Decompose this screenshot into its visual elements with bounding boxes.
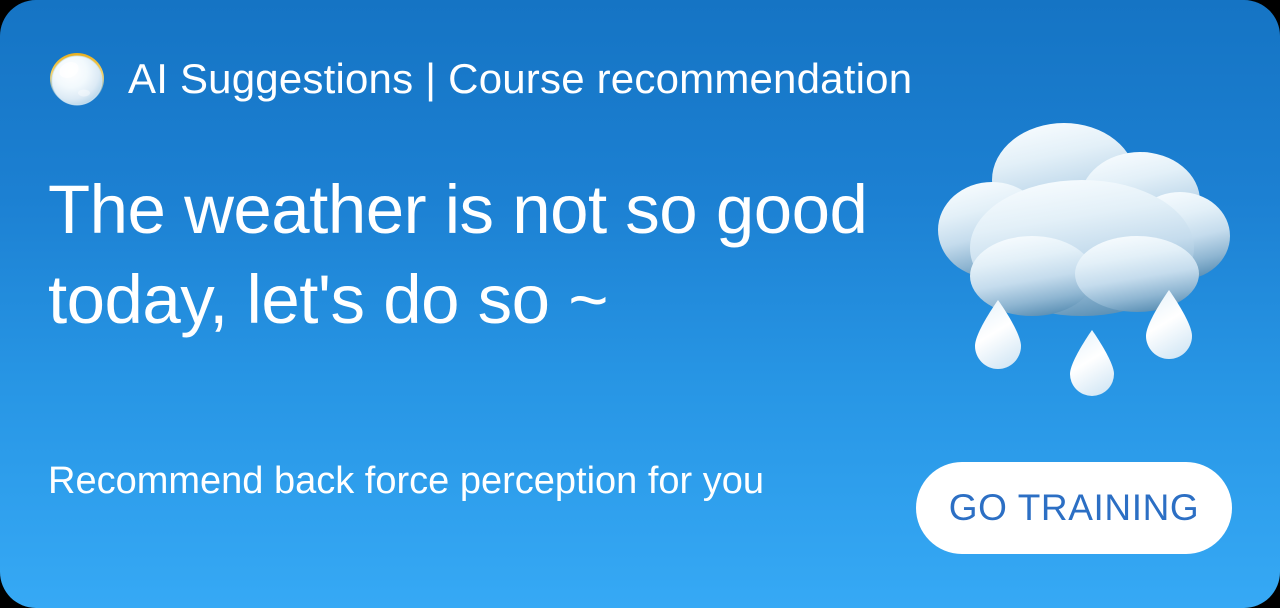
card-header-title: AI Suggestions | Course recommendation [128, 58, 912, 100]
ai-suggestion-card: AI Suggestions | Course recommendation T… [0, 0, 1280, 608]
headline-text: The weather is not so good today, let's … [48, 165, 908, 344]
bubble-icon [48, 50, 106, 108]
go-training-button[interactable]: GO TRAINING [916, 462, 1232, 554]
subtitle-text: Recommend back force perception for you [48, 455, 878, 508]
rain-cloud-icon [912, 108, 1252, 398]
card-header: AI Suggestions | Course recommendation [48, 40, 912, 118]
